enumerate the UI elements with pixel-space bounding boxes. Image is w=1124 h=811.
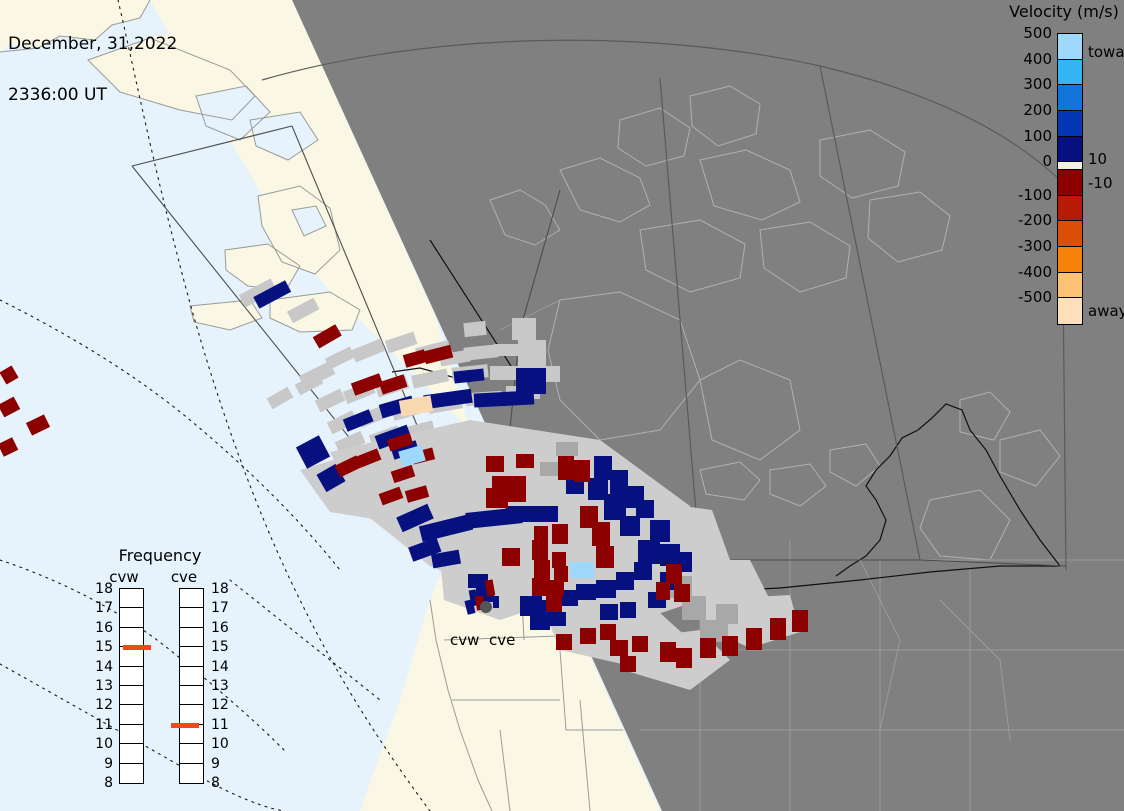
colorbar-band--100 [1058, 196, 1082, 222]
colorbar-tick--200: -200 [1018, 211, 1052, 229]
frequency-marker-cvw [123, 645, 151, 650]
frequency-cell [120, 608, 143, 627]
colorbar-tick--300: -300 [1018, 237, 1052, 255]
frequency-cell [120, 589, 143, 608]
colorbar-tick-500: 500 [1023, 24, 1052, 42]
frequency-tick-cvw-10: 10 [85, 736, 113, 752]
frequency-tick-cvw-18: 18 [85, 581, 113, 597]
frequency-tick-cvw-15: 15 [85, 639, 113, 655]
frequency-tick-cve-17: 17 [211, 600, 229, 616]
frequency-tick-cve-18: 18 [211, 581, 229, 597]
frequency-tick-cvw-8: 8 [85, 775, 113, 791]
frequency-tick-cve-16: 16 [211, 620, 229, 636]
colorbar-band-10 [1058, 162, 1082, 170]
frequency-tick-cve-15: 15 [211, 639, 229, 655]
frequency-column-label-cve: cve [163, 568, 205, 586]
colorbar-title: Velocity (m/s) [1004, 2, 1124, 21]
colorbar-gradient[interactable] [1057, 33, 1083, 325]
radar-label-cvw: cvw [450, 631, 479, 649]
frequency-cell [120, 705, 143, 724]
colorbar-band--200 [1058, 221, 1082, 247]
colorbar-band--500 [1058, 298, 1082, 324]
frequency-cell [180, 647, 203, 666]
frequency-tick-cvw-14: 14 [85, 659, 113, 675]
frequency-bar-cve[interactable] [179, 588, 204, 784]
frequency-tick-cvw-11: 11 [85, 717, 113, 733]
velocity-colorbar: Velocity (m/s) 5004003002001000-100-200-… [1000, 0, 1124, 340]
frequency-tick-cvw-12: 12 [85, 697, 113, 713]
colorbar-label-negative-threshold: -10 [1088, 174, 1113, 192]
frequency-title: Frequency [85, 546, 235, 565]
radar-site-marker[interactable] [480, 601, 492, 613]
colorbar-tick--500: -500 [1018, 288, 1052, 306]
frequency-cell [180, 686, 203, 705]
colorbar-tick-200: 200 [1023, 101, 1052, 119]
colorbar-band--400 [1058, 273, 1082, 299]
colorbar-band-300 [1058, 85, 1082, 111]
colorbar-tick-400: 400 [1023, 50, 1052, 68]
colorbar-tick-100: 100 [1023, 127, 1052, 145]
frequency-tick-cve-12: 12 [211, 697, 229, 713]
colorbar-tick--100: -100 [1018, 186, 1052, 204]
frequency-cell [180, 608, 203, 627]
frequency-tick-cve-11: 11 [211, 717, 229, 733]
frequency-tick-cve-13: 13 [211, 678, 229, 694]
frequency-panel: Frequency cvw18171615141312111098cve1817… [85, 546, 235, 796]
frequency-cell [120, 744, 143, 763]
frequency-bar-cvw[interactable] [119, 588, 144, 784]
frequency-cell [180, 764, 203, 783]
colorbar-band--300 [1058, 247, 1082, 273]
colorbar-band-100 [1058, 137, 1082, 163]
frequency-cell [120, 764, 143, 783]
frequency-cell [180, 589, 203, 608]
timestamp-date: December, 31,2022 [8, 36, 177, 53]
colorbar-label-away: away [1088, 302, 1124, 320]
colorbar-tick-0: 0 [1042, 152, 1052, 170]
colorbar-label-toward: toward [1088, 43, 1124, 61]
colorbar-band-400 [1058, 60, 1082, 86]
frequency-tick-cvw-9: 9 [85, 756, 113, 772]
frequency-tick-cvw-17: 17 [85, 600, 113, 616]
timestamp-time: 2336:00 UT [8, 87, 177, 104]
frequency-cell [180, 628, 203, 647]
frequency-tick-cvw-16: 16 [85, 620, 113, 636]
frequency-tick-cve-10: 10 [211, 736, 229, 752]
colorbar-tick--400: -400 [1018, 263, 1052, 281]
colorbar-band-500 [1058, 34, 1082, 60]
colorbar-tick-300: 300 [1023, 75, 1052, 93]
frequency-cell [180, 667, 203, 686]
colorbar-band-200 [1058, 111, 1082, 137]
colorbar-band--10 [1058, 170, 1082, 196]
frequency-tick-cve-8: 8 [211, 775, 220, 791]
colorbar-label-positive-threshold: 10 [1088, 150, 1107, 168]
frequency-cell [120, 667, 143, 686]
frequency-tick-cvw-13: 13 [85, 678, 113, 694]
superdarn-map-view: December, 31,2022 2336:00 UT Velocity (m… [0, 0, 1124, 811]
timestamp-block: December, 31,2022 2336:00 UT [8, 2, 177, 138]
radar-label-cve: cve [489, 631, 515, 649]
frequency-tick-cve-9: 9 [211, 756, 220, 772]
frequency-cell [120, 686, 143, 705]
frequency-cell [180, 744, 203, 763]
frequency-marker-cve [171, 723, 199, 728]
frequency-tick-cve-14: 14 [211, 659, 229, 675]
frequency-cell [120, 725, 143, 744]
